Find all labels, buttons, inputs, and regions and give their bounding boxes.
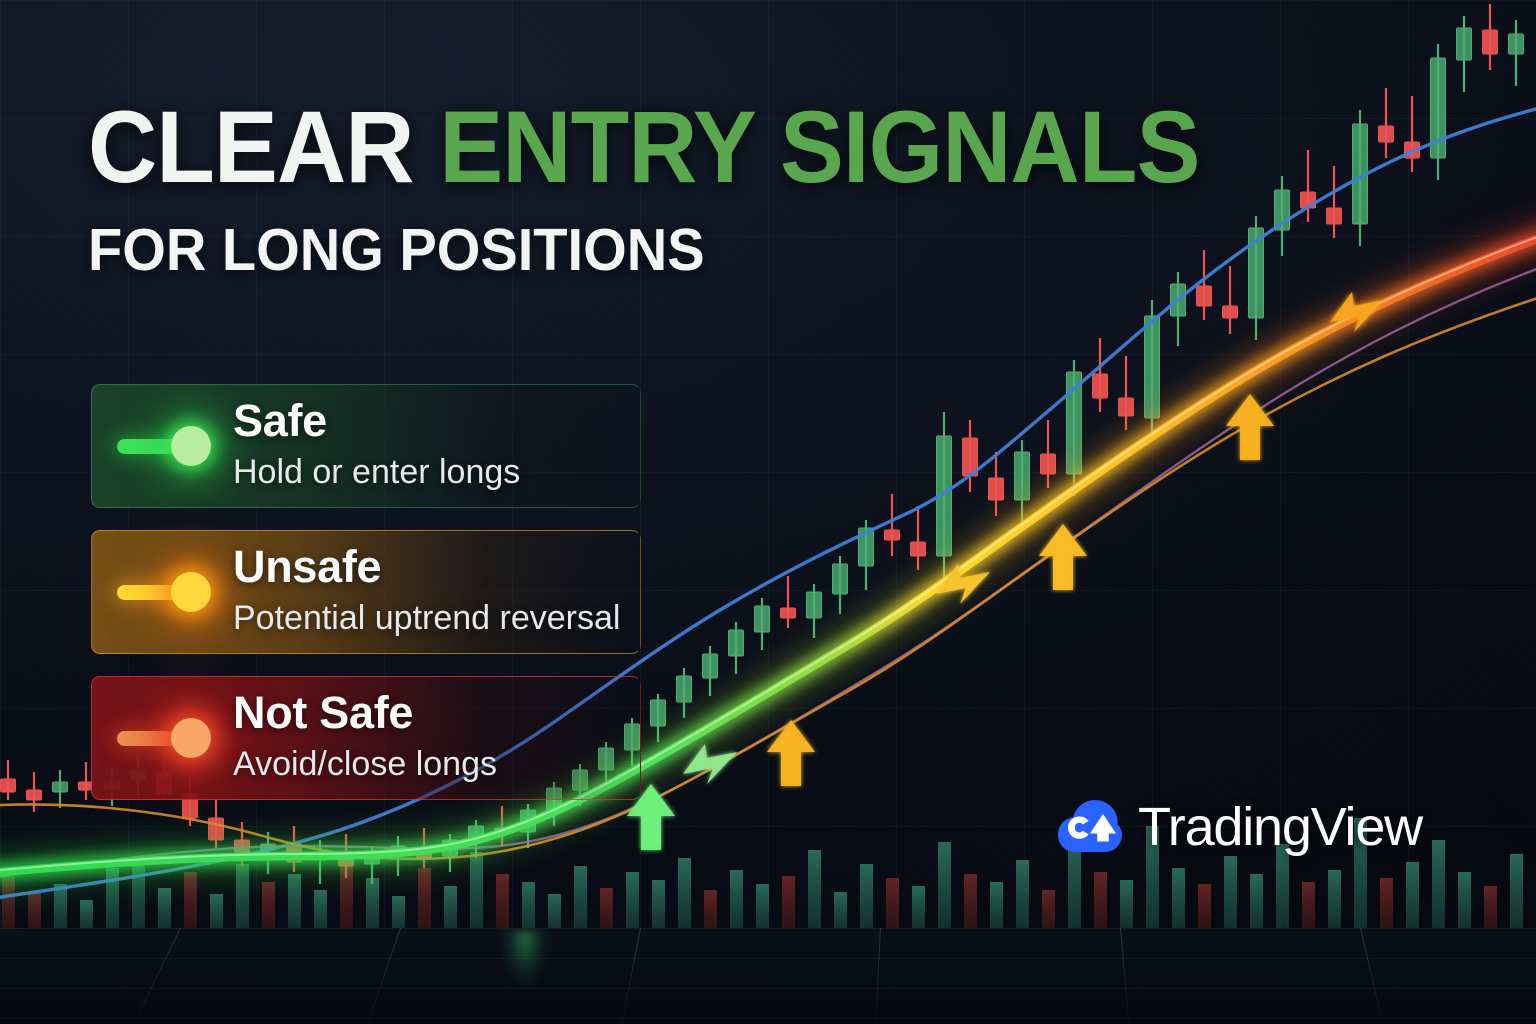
volume-bar: [470, 852, 483, 930]
volume-bar: [912, 886, 925, 930]
legend-desc-safe: Hold or enter longs: [233, 455, 520, 489]
volume-bar: [80, 900, 93, 930]
volume-bar: [704, 890, 717, 930]
volume-bar: [548, 894, 561, 930]
candle-body: [1119, 398, 1134, 416]
candle-body: [1457, 28, 1472, 60]
candle-body: [885, 530, 900, 540]
volume-bar: [990, 882, 1003, 930]
volume-bar: [756, 884, 769, 930]
volume-bar: [314, 890, 327, 930]
volume-bar: [106, 868, 119, 930]
volume-bar: [496, 874, 509, 930]
legend-title-not-safe: Not Safe: [233, 690, 413, 735]
volume-bar: [418, 868, 431, 930]
candle-body: [1145, 316, 1160, 418]
legend-title-safe: Safe: [233, 398, 327, 443]
candle-body: [781, 608, 796, 618]
volume-bar: [288, 874, 301, 930]
candle-body: [1483, 30, 1498, 54]
candle-body: [27, 790, 42, 800]
volume-bar: [236, 864, 249, 930]
candle-body: [1509, 34, 1524, 54]
volume-bar: [1042, 890, 1055, 930]
volume-bar: [938, 842, 951, 930]
volume-bar: [574, 866, 587, 930]
volume-bar: [392, 896, 405, 930]
signal-legend: Safe Hold or enter longs Unsafe Potentia…: [91, 384, 641, 822]
candle-body: [911, 542, 926, 556]
candle-body: [755, 606, 770, 632]
legend-desc-unsafe: Potential uptrend reversal: [233, 601, 620, 635]
volume-bar: [1510, 854, 1523, 930]
volume-bar: [886, 878, 899, 930]
volume-bar: [1250, 874, 1263, 930]
tradingview-branding[interactable]: TradingView: [1058, 800, 1422, 854]
volume-bar: [158, 888, 171, 930]
legend-card-not-safe[interactable]: Not Safe Avoid/close longs: [91, 676, 641, 800]
candle-body: [1223, 306, 1238, 318]
volume-bar: [1458, 872, 1471, 930]
volume-bar: [1432, 840, 1445, 930]
not-safe-signal-marker-icon: [117, 716, 225, 760]
volume-bar: [1302, 882, 1315, 930]
title-word-clear: CLEAR: [88, 90, 439, 204]
volume-bar: [1224, 856, 1237, 930]
volume-bar: [522, 882, 535, 930]
volume-bar: [678, 858, 691, 930]
volume-bar: [1172, 868, 1185, 930]
volume-bar: [366, 878, 379, 930]
volume-bar: [444, 886, 457, 930]
volume-bar: [626, 872, 639, 930]
candle-body: [1327, 208, 1342, 224]
volume-bar: [652, 880, 665, 930]
volume-bar: [54, 884, 67, 930]
candle-body: [729, 630, 744, 656]
candle-body: [833, 564, 848, 594]
safe-dot: [171, 426, 211, 466]
volume-bar: [834, 892, 847, 930]
volume-bar: [730, 870, 743, 930]
candle-body: [1041, 454, 1056, 474]
candle-body: [677, 676, 692, 702]
candle-body: [703, 654, 718, 678]
volume-bar: [1484, 886, 1497, 930]
volume-bar: [1328, 870, 1341, 930]
volume-bar: [1380, 878, 1393, 930]
candle-body: [53, 782, 68, 792]
volume-bar: [184, 872, 197, 930]
candle-body: [1197, 286, 1212, 306]
volume-bar: [1406, 862, 1419, 930]
unsafe-signal-marker-icon: [117, 570, 225, 614]
volume-bar: [782, 876, 795, 930]
legend-card-unsafe[interactable]: Unsafe Potential uptrend reversal: [91, 530, 641, 654]
volume-bar: [600, 888, 613, 930]
tradingview-wordmark: TradingView: [1138, 800, 1422, 854]
volume-bar: [1120, 880, 1133, 930]
title-word-entry-signals: ENTRY SIGNALS: [439, 90, 1199, 204]
volume-bar: [1016, 860, 1029, 930]
arrow-marker-crisp: [767, 720, 815, 786]
candle-body: [1093, 374, 1108, 398]
legend-desc-not-safe: Avoid/close longs: [233, 747, 497, 781]
volume-bar: [1094, 872, 1107, 930]
candle-body: [807, 592, 822, 618]
volume-bar: [262, 882, 275, 930]
candle-body: [651, 700, 666, 726]
volume-bar: [28, 892, 41, 930]
floor-perspective-lines: [0, 928, 1536, 1024]
safe-signal-marker-icon: [117, 424, 225, 468]
legend-title-unsafe: Unsafe: [233, 544, 381, 589]
volume-bar: [964, 874, 977, 930]
volume-bar: [210, 894, 223, 930]
poster-canvas: CLEAR ENTRY SIGNALS FOR LONG POSITIONS S…: [0, 0, 1536, 1024]
volume-bar: [860, 864, 873, 930]
candle-body: [989, 478, 1004, 500]
page-title: CLEAR ENTRY SIGNALS: [88, 96, 1200, 198]
volume-bar: [1198, 884, 1211, 930]
unsafe-dot: [171, 572, 211, 612]
candle-body: [1015, 452, 1030, 500]
legend-card-safe[interactable]: Safe Hold or enter longs: [91, 384, 641, 508]
tradingview-cloud-arrow-icon: [1058, 800, 1122, 854]
reflective-floor: [0, 928, 1536, 1024]
volume-bar: [808, 850, 821, 930]
page-subtitle: FOR LONG POSITIONS: [88, 221, 705, 280]
not-safe-dot: [171, 718, 211, 758]
candle-body: [1379, 126, 1394, 142]
floor-green-reflection: [480, 930, 570, 1022]
candle-body: [1, 779, 16, 792]
